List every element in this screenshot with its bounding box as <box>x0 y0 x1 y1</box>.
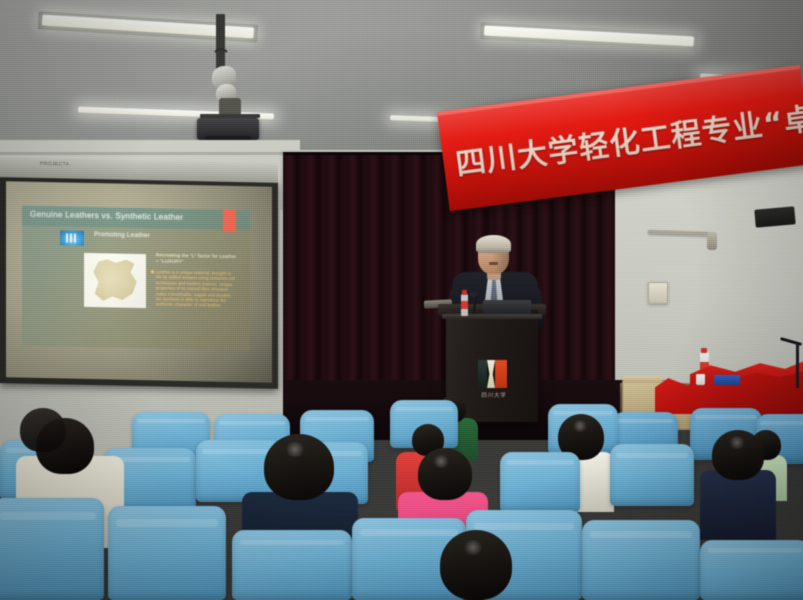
seat-front-3 <box>232 530 352 600</box>
cardboard-box-1-lid <box>624 376 662 383</box>
slide-body-heading: Recreating the “L” factor for Leather = … <box>156 252 238 266</box>
paper-cup <box>696 374 705 385</box>
slide-image-frame <box>84 253 146 308</box>
presenter-mouth <box>489 262 498 265</box>
seat-front-6 <box>582 520 700 600</box>
blue-box <box>714 375 740 385</box>
audience-head-back-left <box>20 408 66 452</box>
screen-surface: Genuine Leathers vs. Synthetic Leather P… <box>6 181 272 383</box>
seat-front-7 <box>700 540 803 600</box>
lectern-logo-segment-dark <box>478 360 487 388</box>
lecture-hall-photo: 四川大学轻化工程专业“卓越 PROJECTA Genuine Leathers … <box>0 0 803 600</box>
lectern-logo-segment-orange <box>495 360 507 388</box>
projection-screen: PROJECTA Genuine Leathers vs. Synthetic … <box>0 175 278 389</box>
lectern-bottle-cap <box>462 290 467 295</box>
presentation-slide: Genuine Leathers vs. Synthetic Leather P… <box>22 206 250 351</box>
slide-body: Recreating the “L” factor for Leather = … <box>156 252 238 309</box>
presenter-hair <box>476 235 511 253</box>
seat-row3-6 <box>500 452 580 512</box>
audience-head-highlight-pink <box>432 455 450 468</box>
wall-junction-box <box>648 282 668 304</box>
microphone-stand-pole <box>796 344 799 388</box>
lectern-laptop <box>483 300 531 314</box>
seat-row3-5 <box>610 444 694 506</box>
seat-front-2 <box>108 506 226 600</box>
wall-speaker <box>754 206 795 227</box>
audience-head-highlight-white <box>572 420 588 432</box>
lectern-bottle-label <box>461 301 468 309</box>
audience-head-highlight-darknavy <box>284 442 306 457</box>
slide-logo-icon <box>60 230 84 246</box>
lectern-logo <box>478 360 507 388</box>
slide-subtitle: Promoting Leather <box>94 231 150 239</box>
slide-bullet-icon <box>151 270 154 273</box>
seat-front-1 <box>0 498 104 600</box>
audience-head-highlight-navy <box>728 436 746 449</box>
leather-hide-image <box>92 259 138 302</box>
audience-head-highlight-front-center <box>462 540 484 555</box>
lectern-plaque-text: 四川大学 <box>470 391 518 399</box>
table-bottle-cap <box>701 348 707 353</box>
lectern-logo-segment-cream <box>487 360 495 388</box>
lectern-front-lip <box>442 314 542 319</box>
lectern-microphone-icon <box>470 292 477 297</box>
wall-ceiling-seam <box>0 152 300 155</box>
slide-body-text: Leather is a unique material, brought to… <box>156 269 238 309</box>
screen-brand-label: PROJECTA <box>40 161 70 168</box>
wall-arm-fitting <box>707 232 717 250</box>
slide-accent-block <box>223 210 236 232</box>
